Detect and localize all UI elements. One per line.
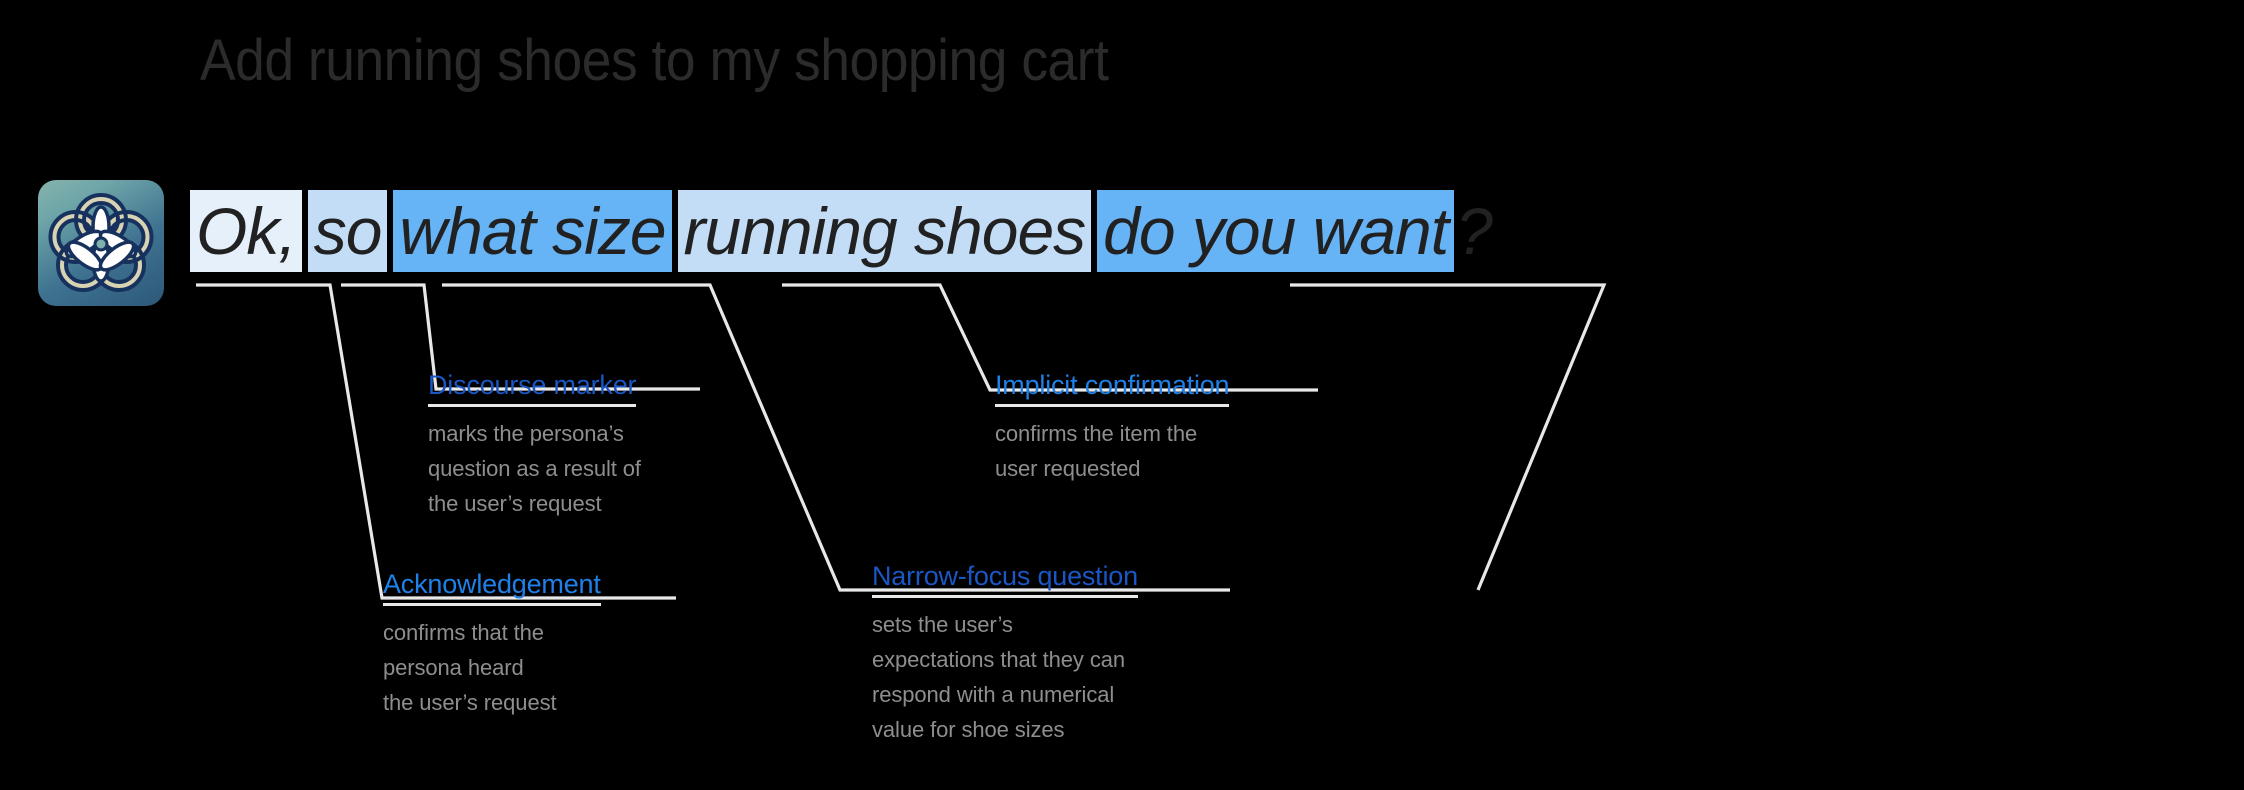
callout-body-line: marks the persona’s xyxy=(428,416,641,451)
callout-heading-implicit-confirmation: Implicit confirmation xyxy=(995,368,1229,407)
callout-body-acknowledgement: confirms that the persona heard the user… xyxy=(383,615,601,720)
utterance-segment-question-mark: ? xyxy=(1454,190,1492,272)
connector-narrow-focus-question-right xyxy=(1290,285,1604,590)
callout-heading-acknowledgement: Acknowledgement xyxy=(383,567,601,606)
utterance-segment-do-you-want[interactable]: do you want xyxy=(1097,190,1454,272)
callout-body-implicit-confirmation: confirms the item the user requested xyxy=(995,416,1229,486)
utterance-segment-what-size[interactable]: what size xyxy=(393,190,671,272)
callout-body-line: the user’s request xyxy=(428,486,641,521)
callout-heading-discourse-marker: Discourse marker xyxy=(428,368,636,407)
callout-acknowledgement: Acknowledgement confirms that the person… xyxy=(383,567,601,720)
callout-body-line: confirms the item the xyxy=(995,416,1229,451)
lotus-mandala-logo-icon xyxy=(38,180,164,306)
callout-body-line: the user’s request xyxy=(383,685,601,720)
callout-body-line: persona heard xyxy=(383,650,601,685)
callout-narrow-focus-question: Narrow-focus question sets the user’s ex… xyxy=(872,559,1138,747)
utterance-segment-ok[interactable]: Ok, xyxy=(190,190,302,272)
callout-body-line: sets the user’s xyxy=(872,607,1138,642)
persona-utterance: Ok, so what size running shoes do you wa… xyxy=(190,190,1492,272)
callout-implicit-confirmation: Implicit confirmation confirms the item … xyxy=(995,368,1229,486)
callout-body-line: confirms that the xyxy=(383,615,601,650)
callout-heading-narrow-focus-question: Narrow-focus question xyxy=(872,559,1138,598)
callout-body-line: question as a result of xyxy=(428,451,641,486)
callout-body-discourse-marker: marks the persona’s question as a result… xyxy=(428,416,641,521)
callout-body-line: respond with a numerical xyxy=(872,677,1138,712)
callout-body-line: value for shoe sizes xyxy=(872,712,1138,747)
page-title: Add running shoes to my shopping cart xyxy=(200,30,1108,93)
utterance-segment-running-shoes[interactable]: running shoes xyxy=(678,190,1092,272)
callout-discourse-marker: Discourse marker marks the persona’s que… xyxy=(428,368,641,521)
diagram-canvas: Add running shoes to my shopping cart xyxy=(0,0,2244,790)
callout-body-line: user requested xyxy=(995,451,1229,486)
callout-body-narrow-focus-question: sets the user’s expectations that they c… xyxy=(872,607,1138,747)
persona-avatar xyxy=(38,180,164,306)
callout-body-line: expectations that they can xyxy=(872,642,1138,677)
utterance-segment-so[interactable]: so xyxy=(308,190,388,272)
